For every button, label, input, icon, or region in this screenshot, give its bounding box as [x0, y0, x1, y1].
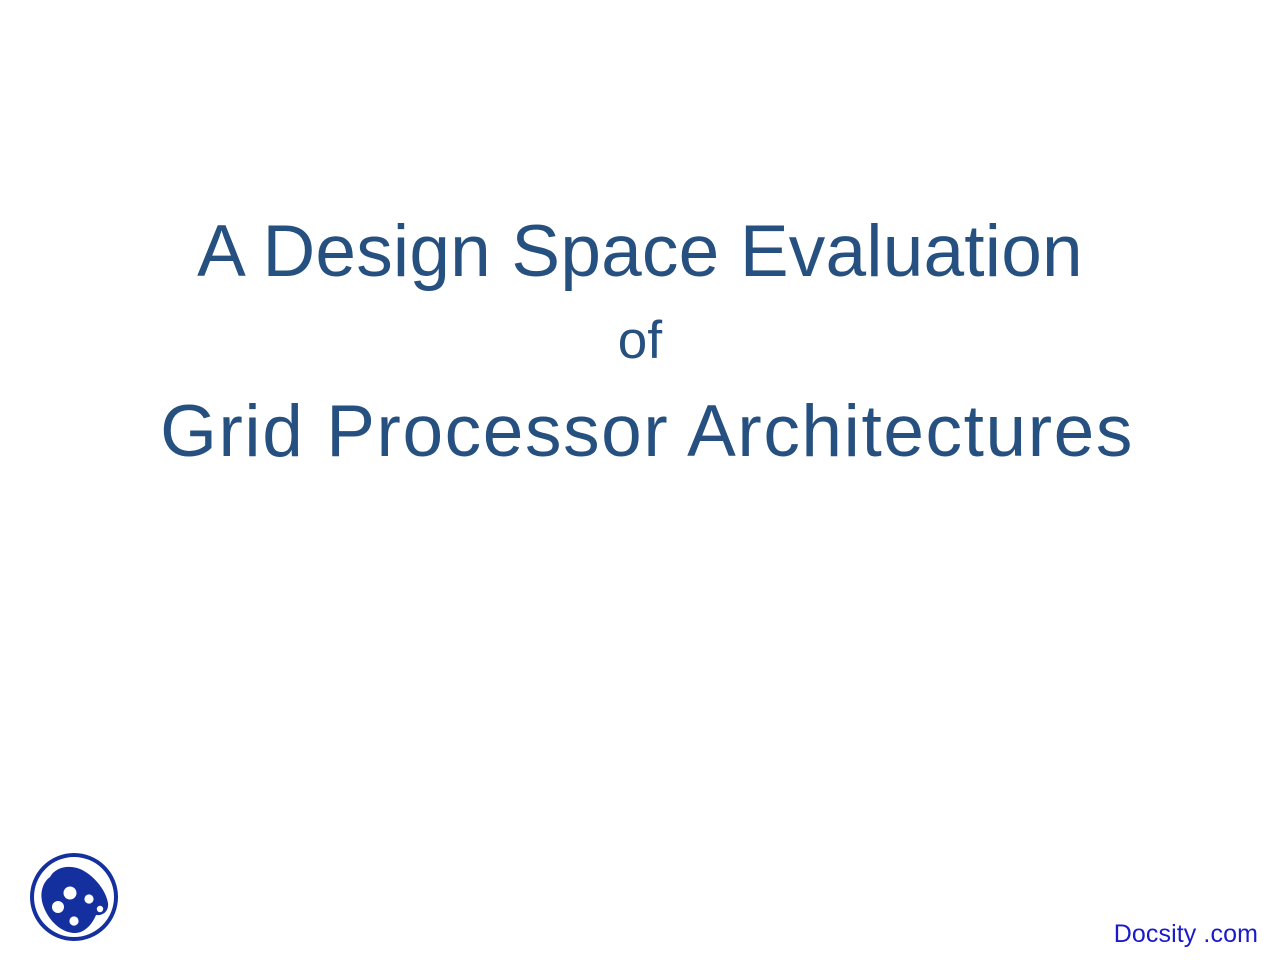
docsity-owl-logo-icon	[28, 851, 120, 943]
logo-dot-3	[52, 901, 64, 913]
title-line-2: of	[0, 298, 1280, 384]
slide-title-block: A Design Space Evaluation of Grid Proces…	[0, 206, 1280, 480]
logo-dot-5	[69, 916, 78, 925]
docsity-owl-logo	[28, 851, 120, 943]
presentation-slide: A Design Space Evaluation of Grid Proces…	[0, 0, 1280, 960]
logo-dot-1	[64, 887, 77, 900]
title-line-3: Grid Processor Architectures	[0, 384, 1280, 480]
logo-dot-2	[84, 894, 93, 903]
title-line-1: A Design Space Evaluation	[0, 206, 1280, 298]
docsity-wordmark: Docsity .com	[1114, 919, 1258, 949]
logo-dot-4	[97, 906, 103, 912]
